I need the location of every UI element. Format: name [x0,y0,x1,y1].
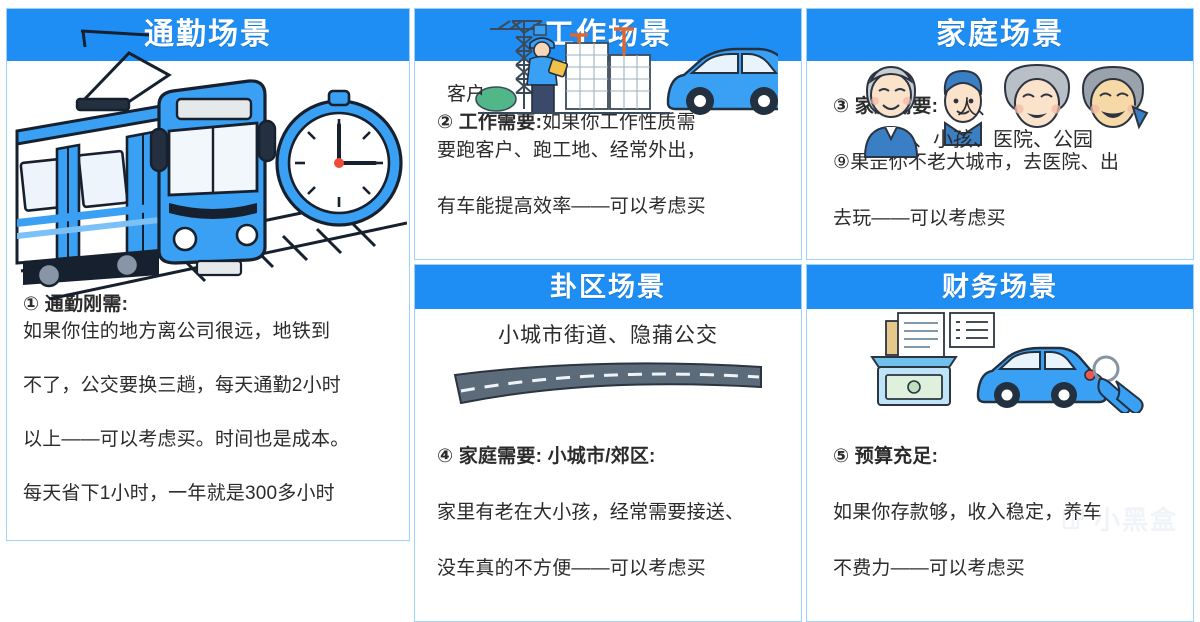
right-columns: 工作场景 [414,8,1194,541]
bottom-row: 卦区场景 小城市街道、隐蒱公交 [414,264,1194,622]
panel-suburb-caption-line-1: 家里有老在大小孩，经常需要接送、 [437,499,789,527]
panel-work[interactable]: 工作场景 [414,8,802,260]
panel-suburb-art-label: 小城市街道、隐蒱公交 [415,319,801,349]
panel-finance-header: 财务场景 [807,265,1193,309]
tram-with-stopwatch-illustration [7,61,409,264]
panel-suburb-caption-head: ④ 家庭需要: 小城市/郊区: [437,443,789,471]
xiaoheihe-logo-icon [1061,506,1087,532]
panel-suburb-caption-line-2: 没车真的不方便——可以考虑买 [437,555,789,583]
money-box-car-keys-illustration [807,309,1193,413]
panel-work-body: 客户 ② 工作需要:如果你工作性质需 要跑客户、跑工地、经常外出， 有车能提高效… [415,61,801,259]
top-row: 工作场景 [414,8,1194,260]
panel-commute[interactable]: 通勤场景 [6,8,410,541]
panel-work-art-label: 客户 [447,79,485,106]
panel-suburb[interactable]: 卦区场景 小城市街道、隐蒱公交 [414,264,802,622]
panel-suburb-caption: ④ 家庭需要: 小城市/郊区: 家里有老在大小孩，经常需要接送、 没车真的不方便… [415,413,801,621]
scenario-board: 通勤场景 [0,0,1200,545]
left-column: 通勤场景 [6,8,410,541]
panel-work-caption-line-2: 要跑客户、跑工地、经常外出， [437,137,789,165]
panel-family-caption-line-2: 去玩——可以考虑买 [833,205,1181,233]
panel-family-header: 家庭场景 [807,9,1193,61]
panel-finance[interactable]: 财务场景 [806,264,1194,622]
panel-work-caption-line-3: 有车能提高效率——可以考虑买 [437,193,789,221]
construction-worker-car-illustration: 客户 [415,61,801,77]
panel-commute-caption-line-3: 以上——可以考虑买。时间也是成本。 [23,426,399,453]
panel-commute-caption-line-1: 如果你住的地方离公司很远，地铁到 [23,318,399,345]
panel-commute-caption-line-4: 每天省下1小时，一年就是300多小时 [23,480,399,507]
curved-road-illustration: 小城市街道、隐蒱公交 [415,309,801,413]
panel-family-body: 人、 、小孩、医院、公园 ③ 家庭需要: ⑨果罡伱不老大城市，去医院、出 去玩—… [807,61,1193,259]
watermark: 小黑盒 [1061,500,1178,537]
panel-suburb-body: 小城市街道、隐蒱公交 ④ 家庭需要: 小城市/郊区: 家里有老在大小孩，经常需要 [415,309,801,621]
panel-finance-caption-line-2: 不费力——可以考虑买 [833,555,1181,583]
panel-commute-body: ① 通勤刚需: 如果你住的地方离公司很远，地铁到 不了，公交要换三趟，每天通勤2… [7,61,409,540]
panel-family[interactable]: 家庭场景 [806,8,1194,260]
watermark-text: 小黑盒 [1094,500,1178,537]
panel-finance-caption-head: ⑤ 预算充足: [833,443,1181,471]
panel-suburb-header: 卦区场景 [415,265,801,309]
panel-family-art-label-1: 人、 [957,91,997,120]
panel-finance-body: ⑤ 预算充足: 如果你存款够，收入稳定，养车 不费力——可以考虑买 [807,309,1193,621]
panel-commute-caption-line-2: 不了，公交要换三趟，每天通勤2小时 [23,372,399,399]
panel-family-art-label-2: 、小孩、医院、公园 [913,123,1093,152]
